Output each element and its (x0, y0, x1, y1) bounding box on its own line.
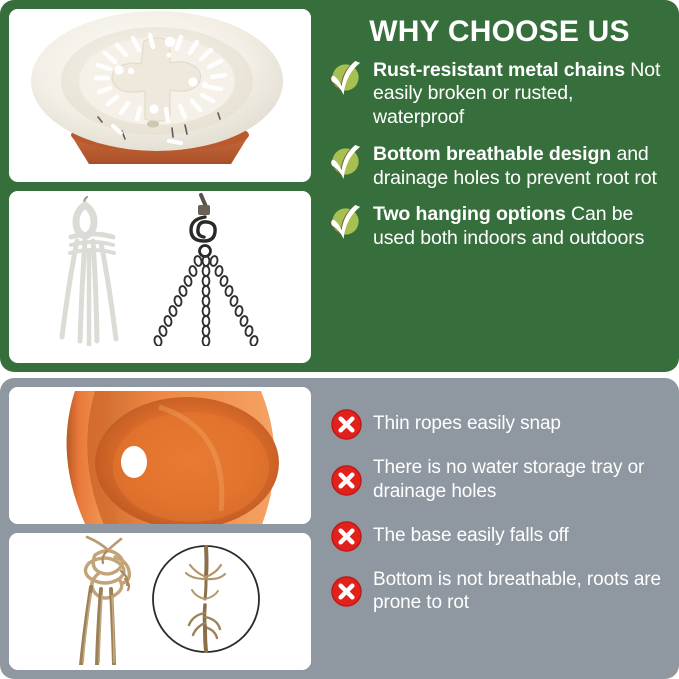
list-item-label: The base easily falls off (373, 523, 569, 548)
list-item-label: Two hanging options Can be used both ind… (373, 202, 669, 251)
list-item-label: Thin ropes easily snap (373, 411, 561, 436)
list-item: Bottom is not breathable, roots are pron… (330, 567, 669, 616)
pros-heading: WHY CHOOSE US (330, 6, 669, 54)
list-item-label: Rust-resistant metal chains Not easily b… (373, 58, 669, 130)
list-item: Bottom breathable design and drainage ho… (330, 142, 669, 191)
pros-media-column (0, 0, 320, 372)
pros-list: Rust-resistant metal chains Not easily b… (330, 54, 669, 251)
list-item-label: Bottom breathable design and drainage ho… (373, 142, 669, 191)
list-item: Thin ropes easily snap (330, 406, 669, 441)
cons-content-column: Thin ropes easily snap There is no water… (320, 378, 679, 679)
frayed-rope-photo (9, 533, 311, 670)
list-item-label: Bottom is not breathable, roots are pron… (373, 567, 669, 616)
list-item-bold: Two hanging options (373, 203, 566, 225)
comparison-infographic: WHY CHOOSE US Rust-resistant metal chain… (0, 0, 679, 679)
pros-panel: WHY CHOOSE US Rust-resistant metal chain… (0, 0, 679, 372)
check-circle-icon (330, 60, 363, 93)
cons-list: Thin ropes easily snap There is no water… (330, 384, 669, 615)
terracotta-pot-illustration (9, 387, 311, 524)
cons-panel: Thin ropes easily snap There is no water… (0, 378, 679, 679)
list-item-bold: Bottom breathable design (373, 143, 611, 165)
list-item: Rust-resistant metal chains Not easily b… (330, 58, 669, 130)
list-item-bold: Rust-resistant metal chains (373, 59, 625, 81)
hanging-options-illustration (9, 191, 311, 346)
pros-content-column: WHY CHOOSE US Rust-resistant metal chain… (320, 0, 679, 372)
planter-drainage-base-photo (9, 9, 311, 182)
list-item: Two hanging options Can be used both ind… (330, 202, 669, 251)
planter-base-illustration (9, 9, 311, 164)
frayed-rope-illustration (9, 533, 311, 665)
cross-circle-icon (330, 408, 363, 441)
list-item-label: There is no water storage tray or draina… (373, 455, 669, 504)
list-item: There is no water storage tray or draina… (330, 455, 669, 504)
cons-media-column (0, 378, 320, 679)
hanging-options-photo (9, 191, 311, 364)
cross-circle-icon (330, 575, 363, 608)
list-item: The base easily falls off (330, 518, 669, 553)
cross-circle-icon (330, 464, 363, 497)
cross-circle-icon (330, 520, 363, 553)
terracotta-pot-interior-photo (9, 387, 311, 524)
check-circle-icon (330, 144, 363, 177)
check-circle-icon (330, 204, 363, 237)
